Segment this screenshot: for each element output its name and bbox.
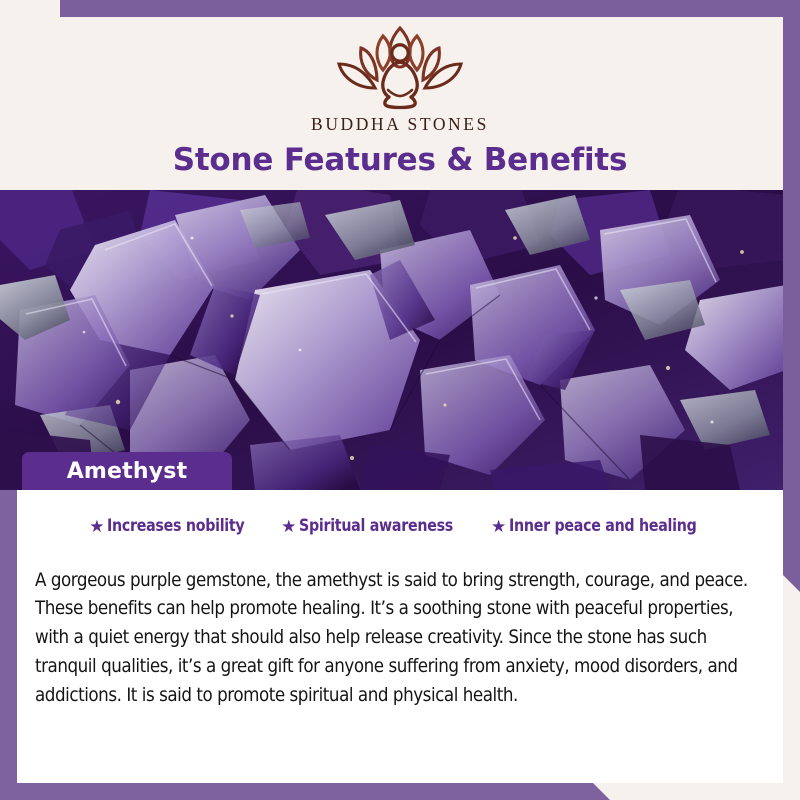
feature-item: ★ Inner peace and healing (491, 516, 711, 536)
amethyst-photo (0, 190, 786, 490)
lotus-meditation-icon (325, 20, 475, 112)
stone-name-banner: Amethyst (22, 452, 232, 490)
feature-list: ★ Increases nobility ★ Spiritual awarene… (17, 490, 783, 536)
card-body: ★ Increases nobility ★ Spiritual awarene… (17, 490, 783, 783)
feature-label: Inner peace and healing (509, 516, 696, 536)
feature-item: ★ Increases nobility (89, 516, 255, 536)
frame-top-border (60, 0, 800, 17)
card-header: BUDDHA STONES Stone Features & Benefits (0, 0, 800, 190)
feature-item: ★ Spiritual awareness (281, 516, 465, 536)
star-icon: ★ (89, 518, 104, 535)
brand-name: BUDDHA STONES (0, 114, 800, 135)
frame-left-border (0, 490, 17, 800)
brand-logo: BUDDHA STONES (0, 20, 800, 135)
frame-right-border (783, 0, 800, 592)
stone-info-card: BUDDHA STONES Stone Features & Benefits (0, 0, 800, 800)
feature-label: Increases nobility (107, 516, 244, 536)
frame-bottom-border (0, 783, 610, 800)
page-title-text: Stone Features & Benefits (173, 142, 628, 178)
stone-name-label: Amethyst (67, 459, 188, 484)
star-icon: ★ (281, 518, 296, 535)
star-icon: ★ (491, 518, 506, 535)
feature-label: Spiritual awareness (299, 516, 453, 536)
stone-description: A gorgeous purple gemstone, the amethyst… (17, 555, 783, 711)
amethyst-photo-graphic (0, 190, 786, 490)
page-title: Stone Features & Benefits (18, 142, 782, 178)
